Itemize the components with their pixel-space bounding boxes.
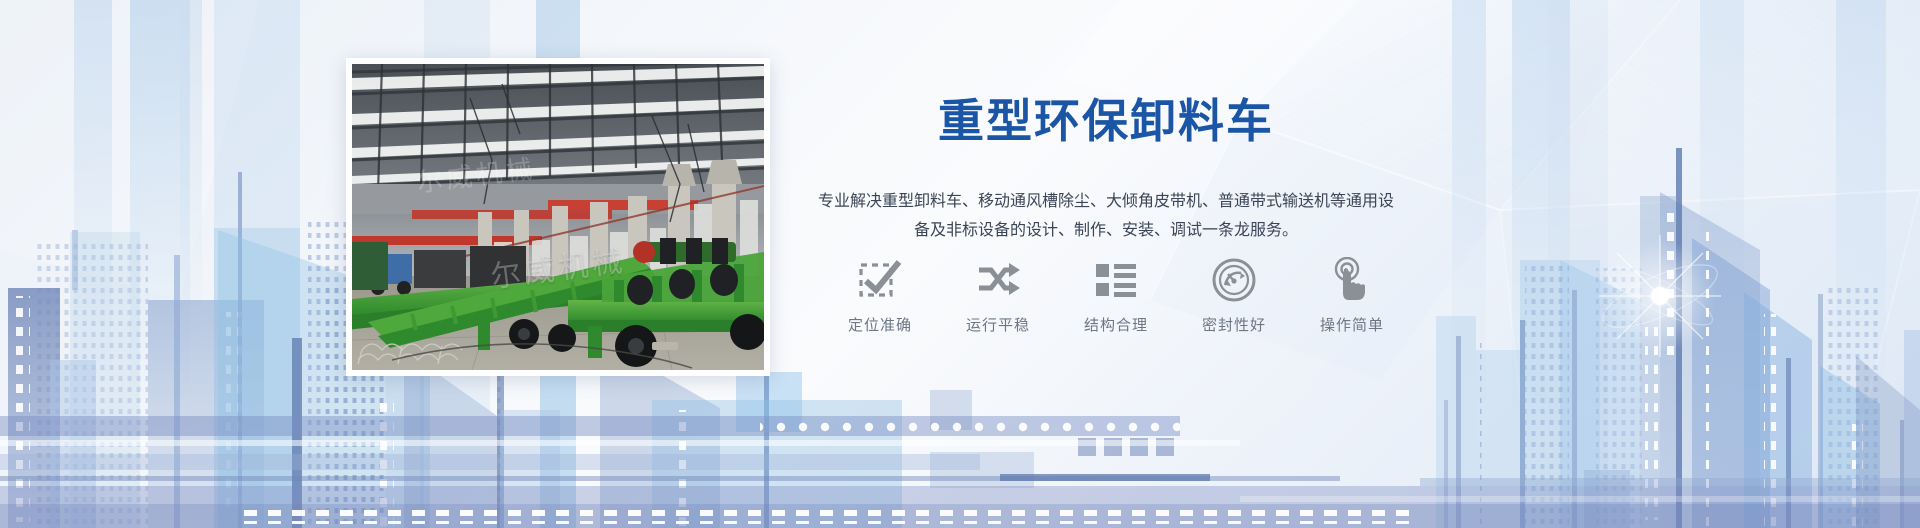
banner-description: 专业解决重型卸料车、移动通风槽除尘、大倾角皮带机、普通带式输送机等通用设备及非标… [818, 187, 1394, 246]
page-title: 重型环保卸料车 [818, 96, 1394, 147]
feature-label-3: 密封性好 [1202, 314, 1266, 335]
feature-label-0: 定位准确 [848, 314, 912, 335]
product-photo-frame: 尔威机械 尔威机械 [346, 58, 770, 376]
product-photo: 尔威机械 尔威机械 [352, 64, 764, 370]
list-blocks-icon [1092, 256, 1140, 304]
feature-item-0[interactable]: 定位准确 [826, 256, 934, 335]
hand-touch-icon [1328, 256, 1376, 304]
feature-item-1[interactable]: 运行平稳 [944, 256, 1052, 335]
feature-label-1: 运行平稳 [966, 314, 1030, 335]
hero-banner: 尔威机械 尔威机械 重型环保卸料车 专业解决重型卸料车、移动通风槽除尘、大倾角皮… [0, 0, 1920, 528]
checkbox-dashed-icon [856, 256, 904, 304]
feature-item-4[interactable]: 操作简单 [1298, 256, 1406, 335]
feature-label-4: 操作简单 [1320, 314, 1384, 335]
bottom-bands [0, 378, 1920, 528]
feature-item-2[interactable]: 结构合理 [1062, 256, 1170, 335]
banner-content: 重型环保卸料车 专业解决重型卸料车、移动通风槽除尘、大倾角皮带机、普通带式输送机… [818, 96, 1394, 246]
seal-gauge-icon [1210, 256, 1258, 304]
feature-item-3[interactable]: 密封性好 [1180, 256, 1288, 335]
feature-list: 定位准确 运行平稳 [826, 256, 1406, 335]
shuffle-arrows-icon [974, 256, 1022, 304]
feature-label-2: 结构合理 [1084, 314, 1148, 335]
